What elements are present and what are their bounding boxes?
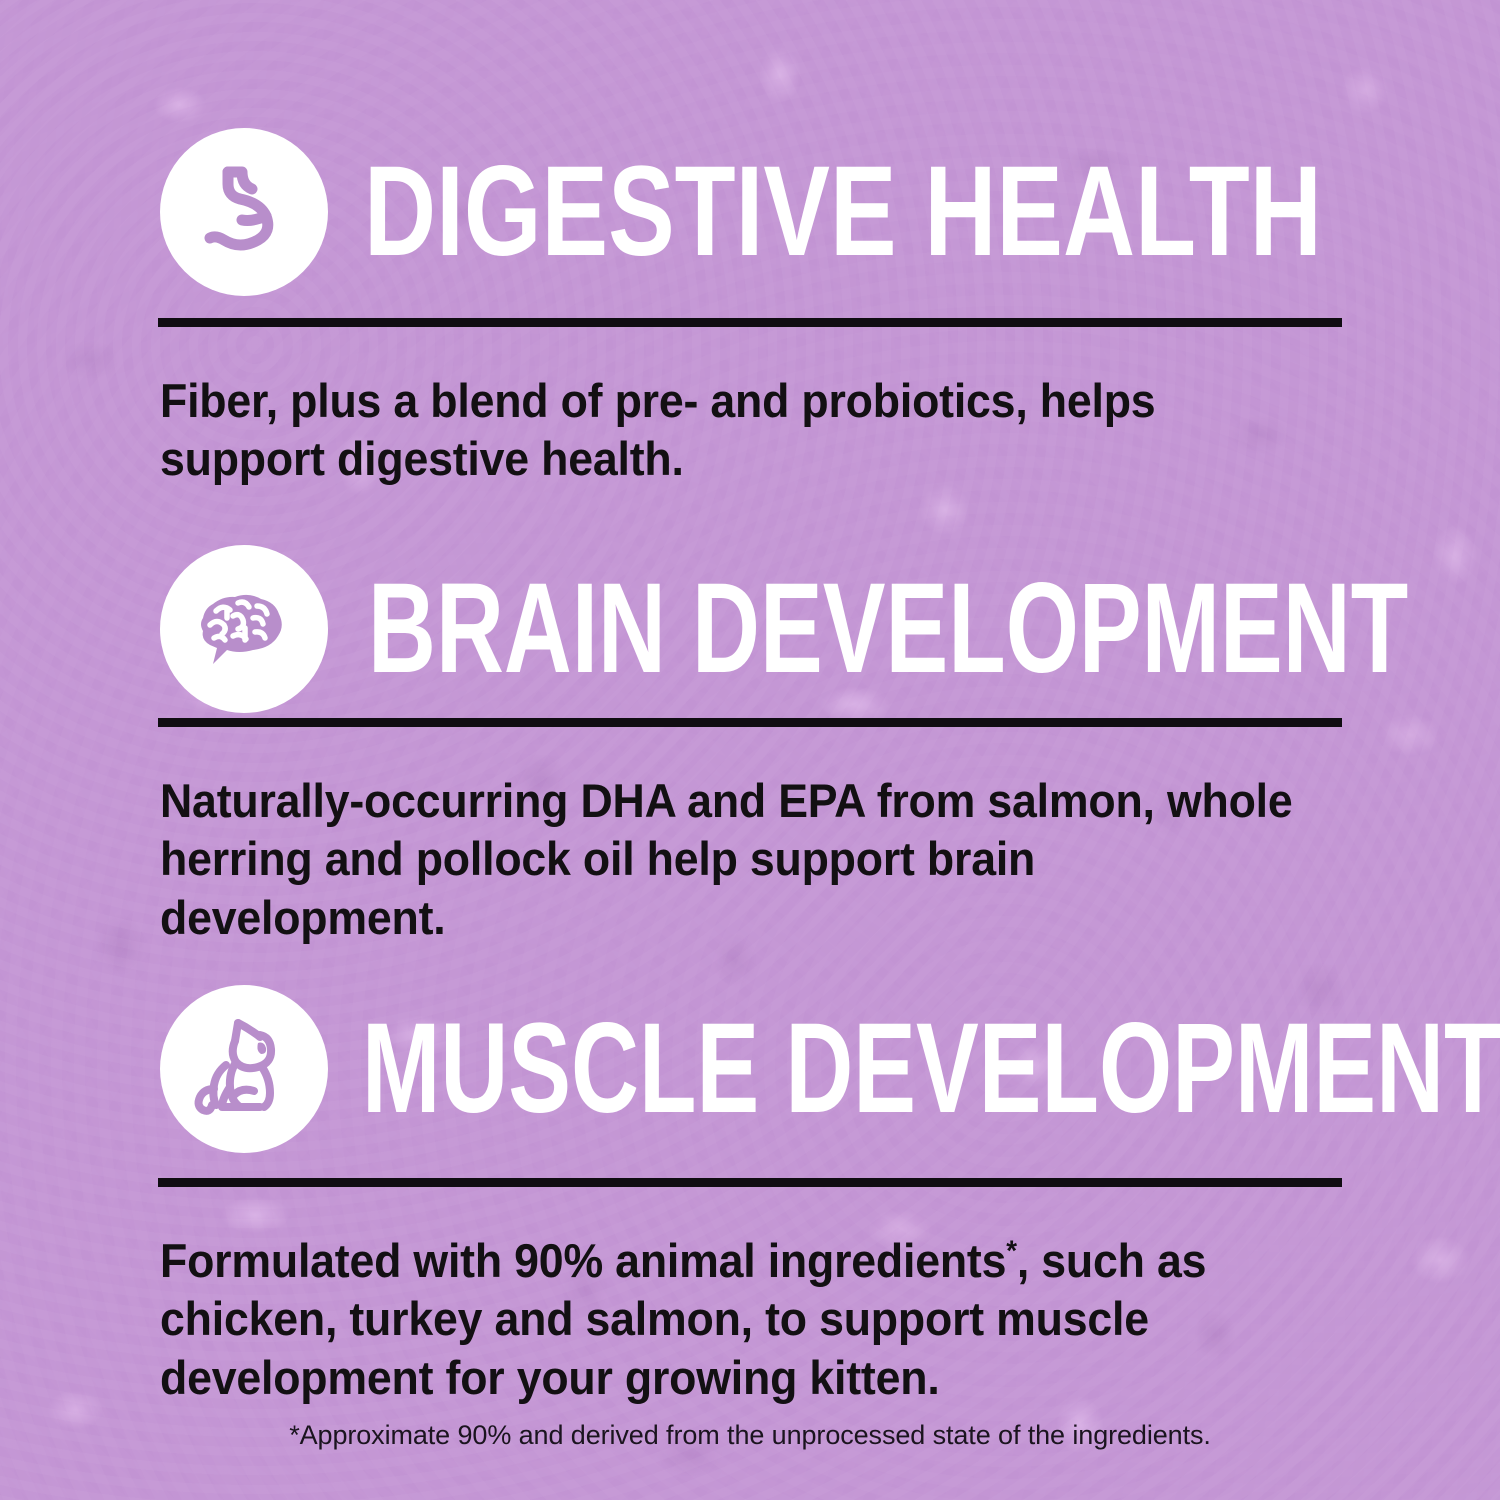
product-benefits-infographic: DIGESTIVE HEALTH Fiber, plus a blend of … (0, 0, 1500, 1500)
section-body-muscle-development: Formulated with 90% animal ingredients*,… (160, 1232, 1314, 1407)
section-body-digestive-health: Fiber, plus a blend of pre- and probioti… (160, 372, 1281, 489)
section-header-digestive-health: DIGESTIVE HEALTH (160, 128, 1500, 296)
stomach-icon (160, 128, 328, 296)
cat-icon (160, 985, 328, 1153)
divider-3 (158, 1178, 1342, 1187)
brain-icon (160, 545, 328, 713)
section-title-brain-development: BRAIN DEVELOPMENT (368, 574, 1408, 684)
divider-2 (158, 718, 1342, 727)
section-title-muscle-development: MUSCLE DEVELOPMENT (362, 1014, 1500, 1124)
section-body-brain-development: Naturally-occurring DHA and EPA from sal… (160, 772, 1310, 947)
body-text-before-asterisk: Formulated with 90% animal ingredients (160, 1234, 1006, 1287)
footnote-disclaimer: *Approximate 90% and derived from the un… (0, 1420, 1500, 1451)
section-header-muscle-development: MUSCLE DEVELOPMENT (160, 985, 1500, 1153)
section-header-brain-development: BRAIN DEVELOPMENT (160, 545, 1500, 713)
divider-1 (158, 318, 1342, 327)
content-layer: DIGESTIVE HEALTH Fiber, plus a blend of … (0, 0, 1500, 1500)
asterisk-marker: * (1006, 1235, 1017, 1267)
section-title-digestive-health: DIGESTIVE HEALTH (364, 157, 1322, 267)
